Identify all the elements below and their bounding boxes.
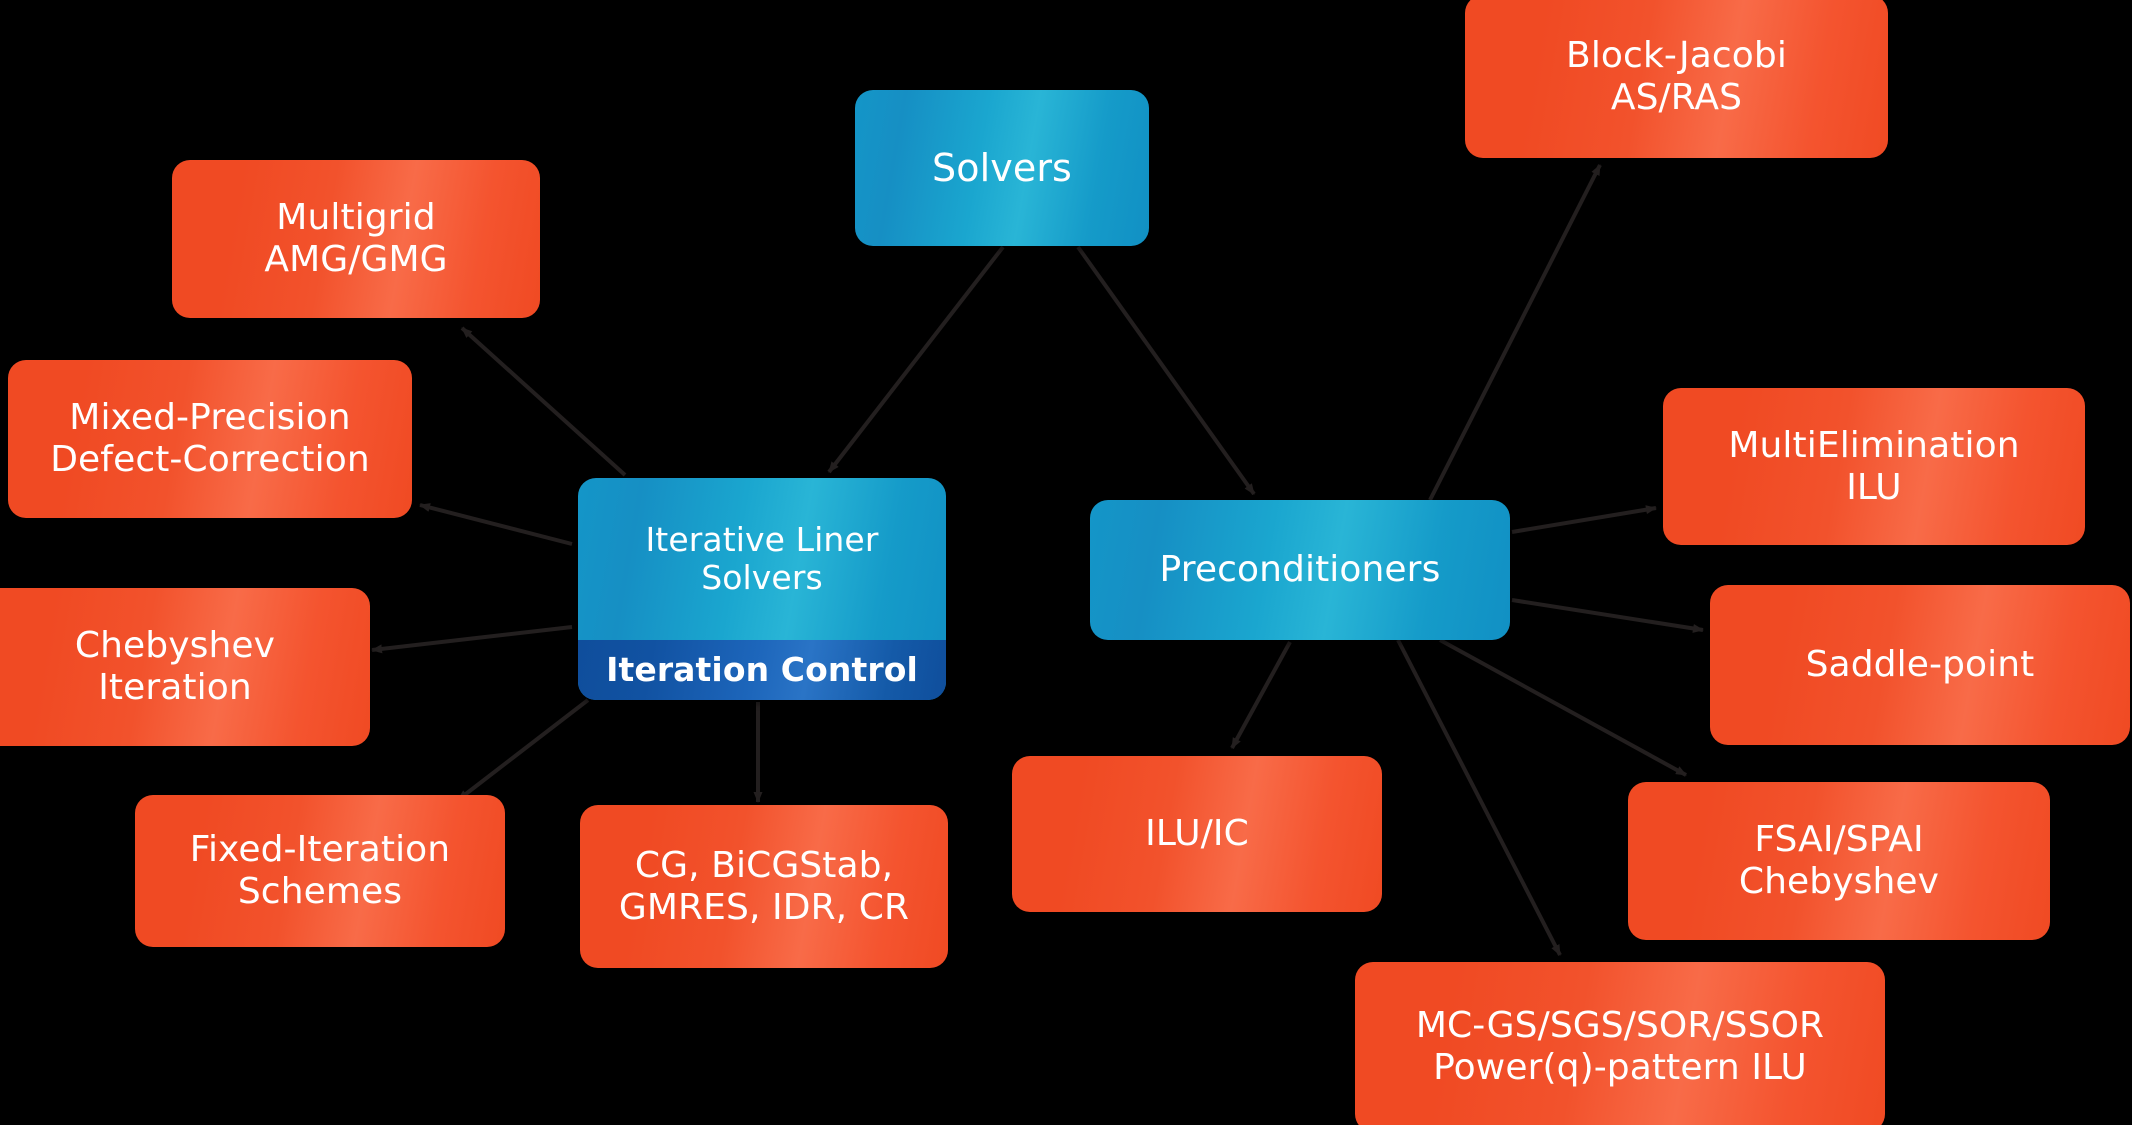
node-chebyshev-iteration-label-line1: Chebyshev xyxy=(75,625,275,666)
node-fixed-iteration-schemes-label: Fixed-Iteration Schemes xyxy=(180,829,460,913)
node-mc-gs[interactable]: MC-GS/SGS/SOR/SSOR Power(q)-pattern ILU xyxy=(1355,962,1885,1125)
node-fsai-spai-label-line1: FSAI/SPAI xyxy=(1754,819,1923,860)
node-fixed-iteration-schemes-label-line1: Fixed-Iteration xyxy=(190,829,450,870)
edge-iterative-solvers-to-mixed-precision xyxy=(420,505,572,544)
edge-iterative-solvers-to-fixed-iteration xyxy=(458,700,588,800)
node-chebyshev-iteration[interactable]: Chebyshev Iteration xyxy=(0,588,370,746)
node-multielimination-ilu-label: MultiElimination ILU xyxy=(1718,425,2029,509)
node-solvers-label: Solvers xyxy=(922,146,1082,190)
node-multigrid[interactable]: Multigrid AMG/GMG xyxy=(172,160,540,318)
node-multielimination-ilu-label-line2: ILU xyxy=(1846,467,1902,508)
node-iterative-linear-solvers-label: Iterative Liner Solvers xyxy=(635,521,888,598)
node-solvers[interactable]: Solvers xyxy=(855,90,1149,246)
node-preconditioners[interactable]: Preconditioners xyxy=(1090,500,1510,640)
node-multigrid-label: Multigrid AMG/GMG xyxy=(254,197,457,281)
node-preconditioners-label: Preconditioners xyxy=(1150,549,1451,591)
node-iterative-linear-solvers-label-line2: Solvers xyxy=(701,558,823,597)
edge-iterative-solvers-to-multigrid xyxy=(462,328,625,475)
node-krylov-methods-label-line2: GMRES, IDR, CR xyxy=(619,887,909,928)
edge-preconditioners-to-block-jacobi xyxy=(1430,165,1600,500)
node-mc-gs-label-line1: MC-GS/SGS/SOR/SSOR xyxy=(1416,1005,1824,1046)
diagram-canvas: Solvers Iterative Liner Solvers Iteratio… xyxy=(0,0,2132,1125)
node-mixed-precision[interactable]: Mixed-Precision Defect-Correction xyxy=(8,360,412,518)
node-multigrid-label-line1: Multigrid xyxy=(276,197,435,238)
node-chebyshev-iteration-label-line2: Iteration xyxy=(98,667,252,708)
node-mixed-precision-label: Mixed-Precision Defect-Correction xyxy=(40,397,380,481)
node-multigrid-label-line2: AMG/GMG xyxy=(264,239,447,280)
edge-solvers-to-preconditioners xyxy=(1078,247,1254,494)
node-multielimination-ilu[interactable]: MultiElimination ILU xyxy=(1663,388,2085,545)
node-ilu-ic-label: ILU/IC xyxy=(1135,813,1259,855)
node-fixed-iteration-schemes[interactable]: Fixed-Iteration Schemes xyxy=(135,795,505,947)
node-fixed-iteration-schemes-label-line2: Schemes xyxy=(238,871,402,912)
node-krylov-methods-label: CG, BiCGStab, GMRES, IDR, CR xyxy=(609,845,919,929)
node-block-jacobi-label-line1: Block-Jacobi xyxy=(1566,35,1787,76)
node-block-jacobi[interactable]: Block-Jacobi AS/RAS xyxy=(1465,0,1888,158)
node-saddle-point[interactable]: Saddle-point xyxy=(1710,585,2130,745)
node-mc-gs-label: MC-GS/SGS/SOR/SSOR Power(q)-pattern ILU xyxy=(1406,1005,1834,1089)
node-iteration-control[interactable]: Iteration Control xyxy=(578,640,946,700)
node-iterative-linear-solvers-label-line1: Iterative Liner xyxy=(645,520,878,559)
node-krylov-methods-label-line1: CG, BiCGStab, xyxy=(635,845,893,886)
node-iterative-linear-solvers[interactable]: Iterative Liner Solvers Iteration Contro… xyxy=(578,478,946,700)
node-chebyshev-iteration-label: Chebyshev Iteration xyxy=(65,625,285,709)
edge-preconditioners-to-ilu-ic xyxy=(1232,642,1290,748)
node-ilu-ic[interactable]: ILU/IC xyxy=(1012,756,1382,912)
node-block-jacobi-label: Block-Jacobi AS/RAS xyxy=(1556,35,1797,119)
node-krylov-methods[interactable]: CG, BiCGStab, GMRES, IDR, CR xyxy=(580,805,948,968)
node-block-jacobi-label-line2: AS/RAS xyxy=(1611,77,1742,118)
edge-preconditioners-to-multielimination xyxy=(1512,508,1656,532)
edge-preconditioners-to-mc-gs xyxy=(1398,640,1560,955)
edge-iterative-solvers-to-chebyshev xyxy=(372,627,572,650)
node-mc-gs-label-line2: Power(q)-pattern ILU xyxy=(1433,1047,1807,1088)
node-fsai-spai-label-line2: Chebyshev xyxy=(1739,861,1939,902)
node-mixed-precision-label-line1: Mixed-Precision xyxy=(69,397,350,438)
node-fsai-spai-label: FSAI/SPAI Chebyshev xyxy=(1729,819,1949,903)
node-iterative-linear-solvers-main: Iterative Liner Solvers xyxy=(578,478,946,640)
node-multielimination-ilu-label-line1: MultiElimination xyxy=(1728,425,2019,466)
node-saddle-point-label: Saddle-point xyxy=(1796,644,2045,686)
edge-preconditioners-to-saddle-point xyxy=(1512,600,1703,630)
node-fsai-spai[interactable]: FSAI/SPAI Chebyshev xyxy=(1628,782,2050,940)
node-mixed-precision-label-line2: Defect-Correction xyxy=(50,439,370,480)
node-iteration-control-label: Iteration Control xyxy=(596,651,928,689)
edge-preconditioners-to-fsai-spai xyxy=(1440,640,1686,775)
edge-solvers-to-iterative-solvers xyxy=(829,247,1003,472)
